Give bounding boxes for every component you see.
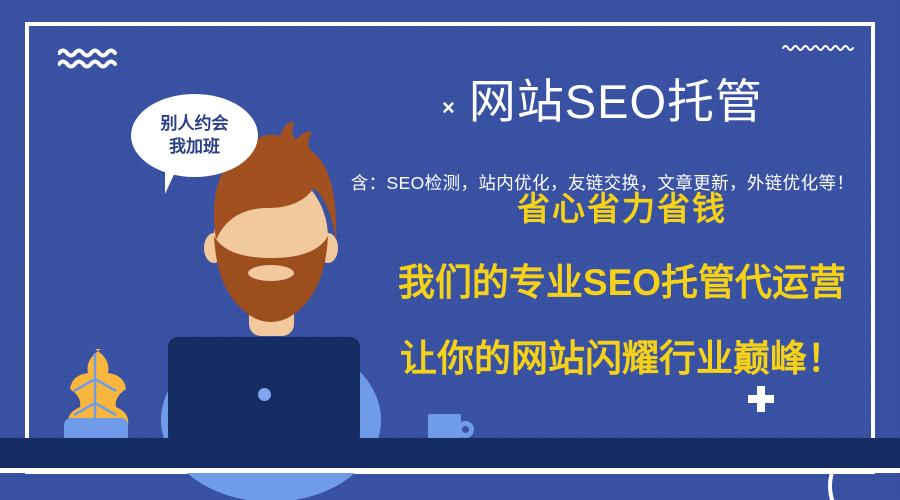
speech-bubble-line-1: 别人约会 xyxy=(161,113,229,136)
mouth-shape xyxy=(248,265,294,281)
speech-bubble-line-2: 我加班 xyxy=(169,136,220,159)
laptop-logo-icon xyxy=(258,388,271,401)
desk-surface xyxy=(0,438,900,468)
desk-edge-line xyxy=(0,468,900,473)
speech-bubble: 别人约会 我加班 xyxy=(131,94,258,177)
seo-hosting-banner: × 网站SEO托管 含：SEO检测，站内优化，友链交换，文章更新，外链优化等！ … xyxy=(0,0,900,500)
